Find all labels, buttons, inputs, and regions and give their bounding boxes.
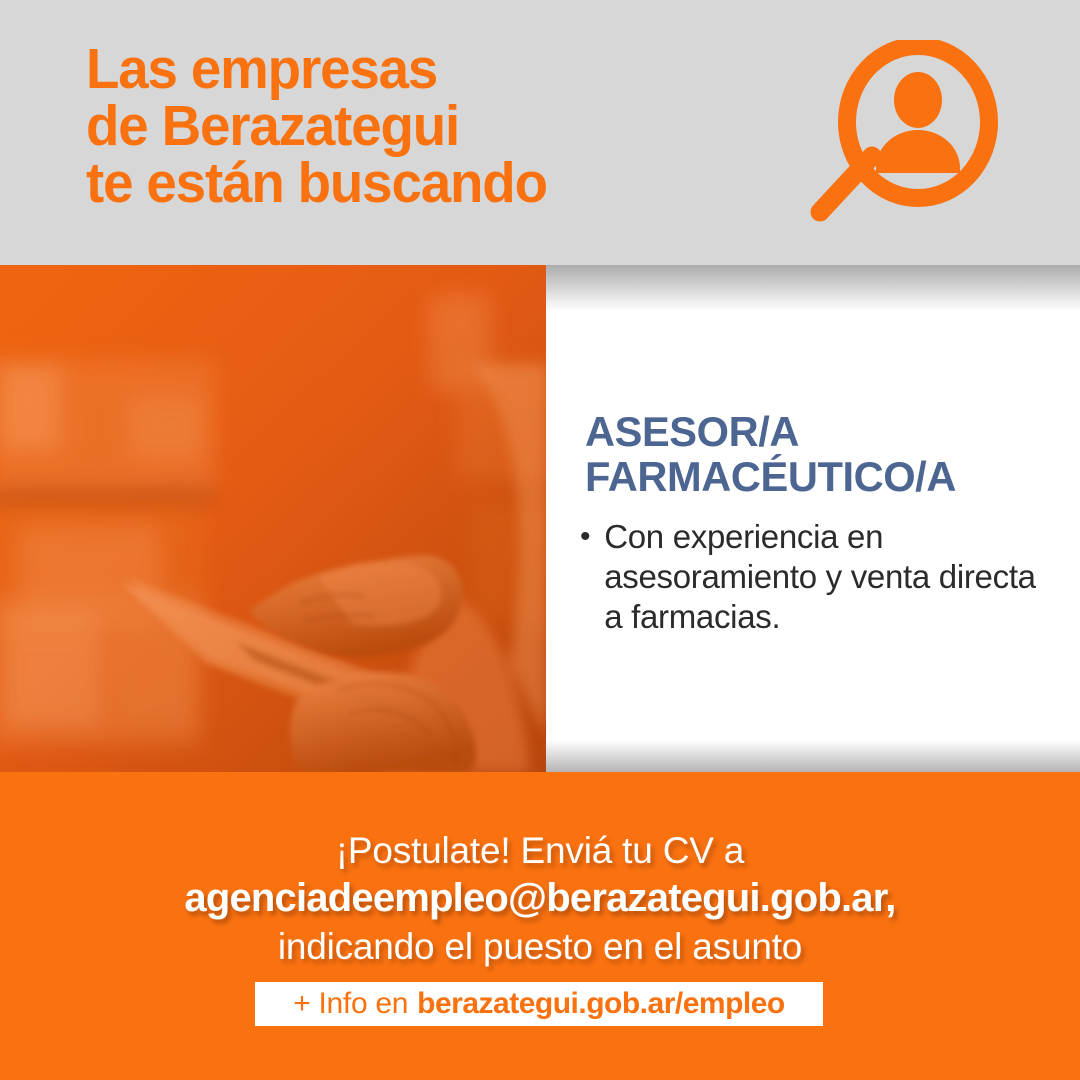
header-headline-line-2: de Berazategui: [86, 98, 700, 155]
header-headline-line-3: te están buscando: [86, 155, 700, 212]
search-person-icon: [790, 40, 1005, 230]
job-title-line-1: ASESOR/A: [585, 409, 1060, 454]
poster-header: Las empresas de Berazategui te están bus…: [0, 0, 1080, 265]
job-title: ASESOR/A FARMACÉUTICO/A: [585, 409, 1060, 499]
header-headline-line-1: Las empresas: [86, 41, 700, 98]
cta-line-1: ¡Postulate! Enviá tu CV a: [0, 828, 1080, 873]
panel-bottom-shadow: [546, 740, 1080, 772]
more-info-url[interactable]: berazategui.gob.ar/empleo: [417, 989, 785, 1019]
pharmacy-photo: [0, 265, 546, 772]
job-posting-poster: Las empresas de Berazategui te están bus…: [0, 0, 1080, 1080]
bullet-icon: •: [580, 517, 590, 557]
job-title-line-2: FARMACÉUTICO/A: [585, 454, 1060, 499]
requirement-text: Con experiencia en asesoramiento y venta…: [604, 517, 1050, 637]
cta-email-address[interactable]: agenciadeempleo@berazategui.gob.ar,: [0, 873, 1080, 923]
more-info-prefix: + Info en: [293, 989, 408, 1019]
more-info-box[interactable]: + Info en berazategui.gob.ar/empleo: [255, 982, 823, 1026]
call-to-action: ¡Postulate! Enviá tu CV a agenciadeemple…: [0, 828, 1080, 971]
cta-line-3: indicando el puesto en el asunto: [0, 923, 1080, 971]
header-headline: Las empresas de Berazategui te están bus…: [86, 41, 700, 212]
list-item: • Con experiencia en asesoramiento y ven…: [580, 517, 1050, 637]
job-requirements-list: • Con experiencia en asesoramiento y ven…: [580, 517, 1050, 637]
